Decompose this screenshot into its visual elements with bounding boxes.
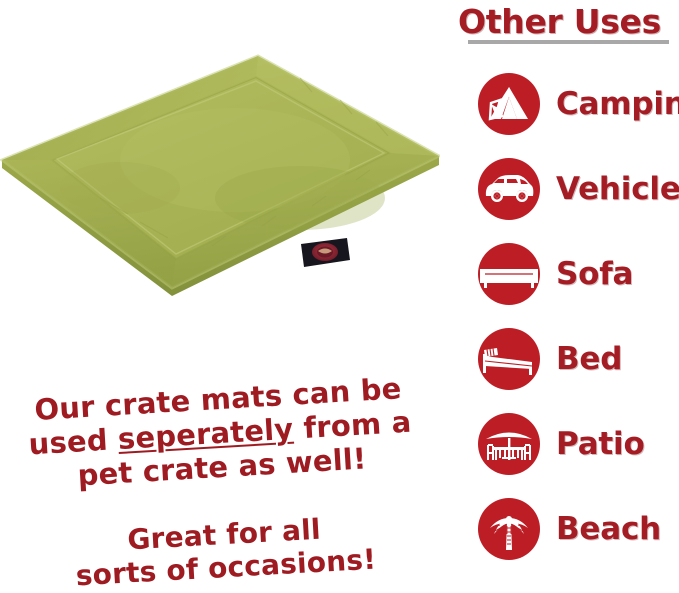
camping-icon-badge <box>478 73 540 135</box>
use-row-camping: Camping <box>440 61 679 146</box>
patio-umbrella-table-icon <box>478 413 540 475</box>
marketing-copy-secondary: Great for all sorts of occasions! <box>58 509 391 593</box>
marketing-copy-primary: Our crate mats can be used seperately fr… <box>11 370 428 497</box>
tent-icon <box>478 73 540 135</box>
infographic-canvas: Our crate mats can be used seperately fr… <box>0 0 679 593</box>
use-label-vehicle: Vehicle <box>556 171 679 207</box>
use-label-sofa: Sofa <box>556 256 633 292</box>
use-label-beach: Beach <box>556 511 661 547</box>
brand-tag <box>301 238 350 267</box>
use-row-beach: Beach <box>440 486 679 571</box>
use-label-patio: Patio <box>556 426 645 462</box>
copy-line-2-post: from a <box>292 405 412 446</box>
crate-mat-illustration <box>0 48 440 306</box>
sofa-icon-badge <box>478 243 540 305</box>
other-uses-panel: Other Uses Camping <box>440 0 679 593</box>
use-row-bed: Bed <box>440 316 679 401</box>
use-row-patio: Patio <box>440 401 679 486</box>
product-image <box>0 48 440 306</box>
uses-list: Camping <box>440 61 679 571</box>
use-label-camping: Camping <box>556 86 679 122</box>
beach-icon-badge <box>478 498 540 560</box>
use-row-sofa: Sofa <box>440 231 679 316</box>
patio-icon-badge <box>478 413 540 475</box>
bed-icon <box>478 328 540 390</box>
use-label-bed: Bed <box>556 341 622 377</box>
copy-line-2-pre: used <box>28 422 119 461</box>
title-divider <box>468 40 669 44</box>
car-icon <box>478 158 540 220</box>
sofa-icon <box>478 243 540 305</box>
bed-icon-badge <box>478 328 540 390</box>
vehicle-icon-badge <box>478 158 540 220</box>
palm-tree-icon <box>478 498 540 560</box>
crate-mat-shape <box>0 48 440 306</box>
panel-title: Other Uses <box>440 2 679 41</box>
use-row-vehicle: Vehicle <box>440 146 679 231</box>
